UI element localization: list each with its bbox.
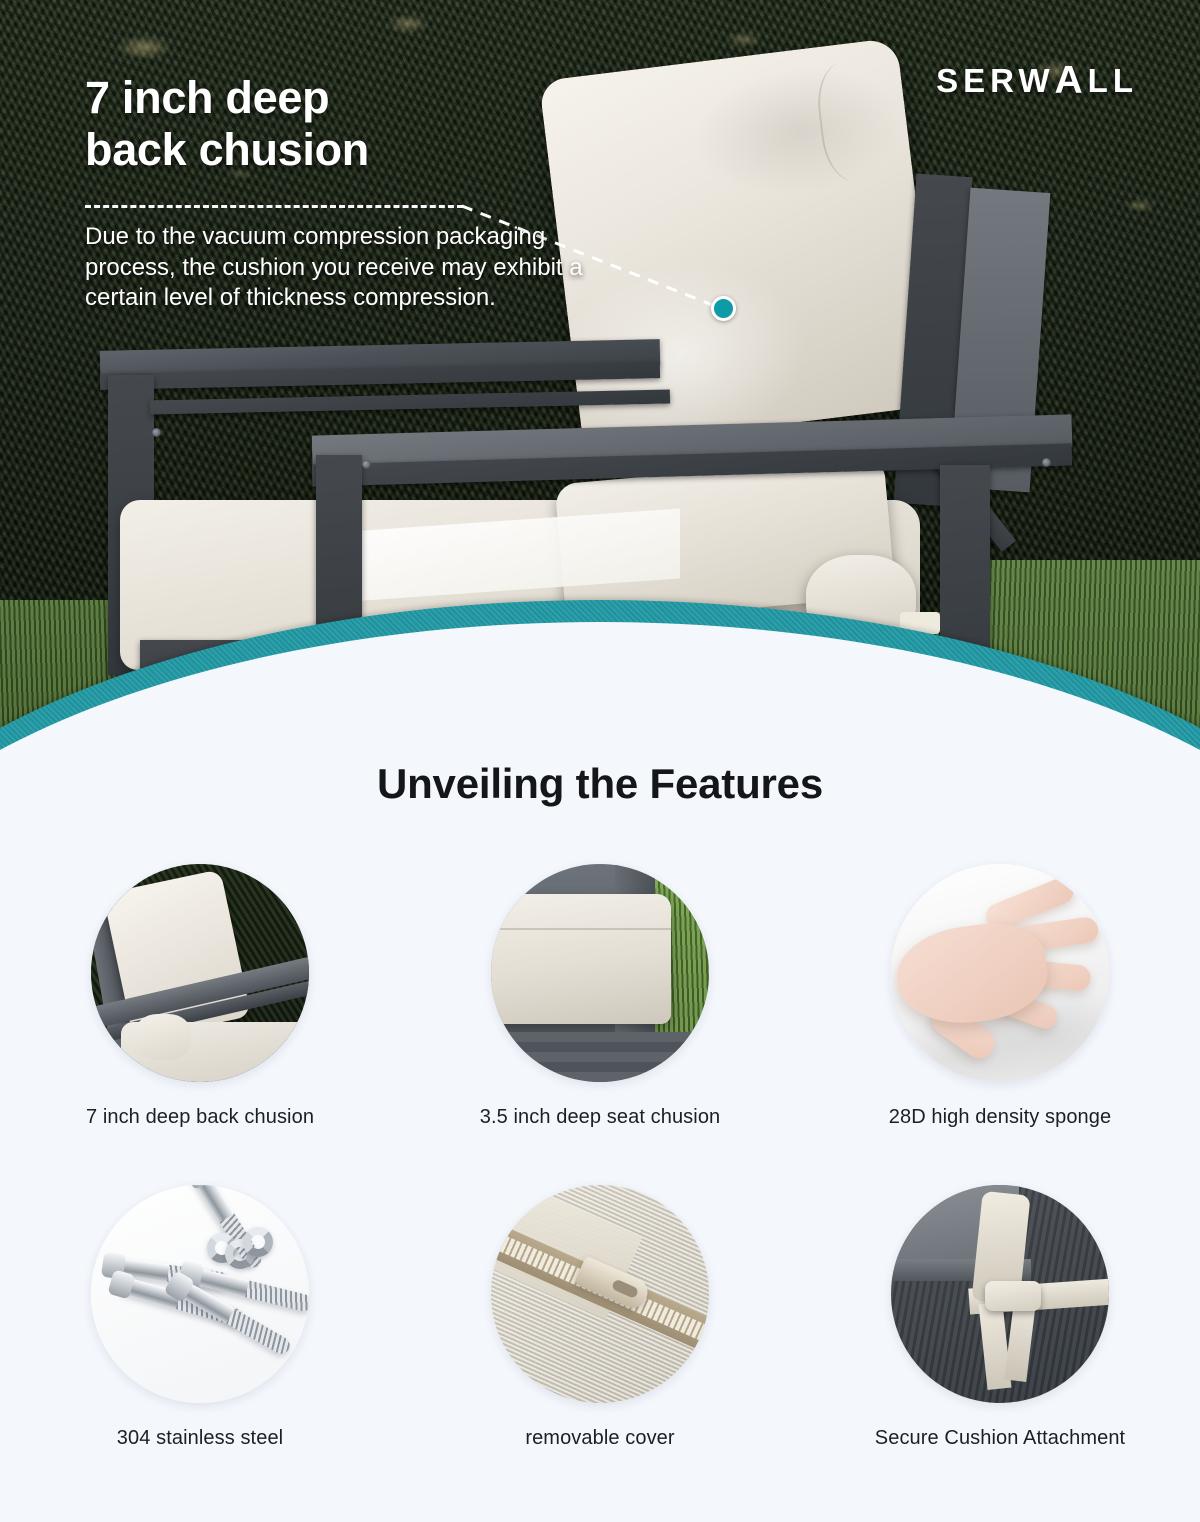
feature-thumbnail[interactable] (491, 1185, 709, 1403)
stainless-hardware-photo (91, 1185, 309, 1403)
screw-icon (152, 428, 161, 437)
features-row: 7 inch deep back chusion 3.5 inch deep s… (0, 864, 1200, 1129)
feature-thumbnail[interactable] (91, 1185, 309, 1403)
features-title: Unveiling the Features (0, 760, 1200, 808)
feature-caption: 3.5 inch deep seat chusion (480, 1106, 721, 1129)
logo-text-part-2: LL (1088, 62, 1138, 100)
feature-thumbnail[interactable] (891, 864, 1109, 1082)
headline-line-1: 7 inch deep (85, 72, 329, 123)
feature-caption: Secure Cushion Attachment (875, 1427, 1125, 1450)
foam-density-photo (891, 864, 1109, 1082)
seat-cushion-photo (491, 864, 709, 1082)
feature-item[interactable]: 3.5 inch deep seat chusion (400, 864, 800, 1129)
zipper-cover-photo (491, 1185, 709, 1403)
screw-icon (362, 460, 371, 469)
feature-thumbnail[interactable] (891, 1185, 1109, 1403)
feature-caption: 28D high density sponge (889, 1106, 1111, 1129)
features-row: 304 stainless steel removable cover (0, 1185, 1200, 1450)
brand-logo: SERWALL (936, 58, 1138, 102)
cushion-attachment-photo (891, 1185, 1109, 1403)
back-cushion-photo (91, 864, 309, 1082)
feature-item[interactable]: 28D high density sponge (800, 864, 1200, 1129)
headline-divider (85, 205, 463, 208)
feature-item[interactable]: Secure Cushion Attachment (800, 1185, 1200, 1450)
logo-text-part-1: SERW (936, 62, 1054, 100)
feature-item[interactable]: removable cover (400, 1185, 800, 1450)
features-grid: 7 inch deep back chusion 3.5 inch deep s… (0, 864, 1200, 1450)
feature-item[interactable]: 7 inch deep back chusion (0, 864, 400, 1129)
feature-caption: 7 inch deep back chusion (86, 1106, 314, 1129)
features-section: Unveiling the Features 7 inch deep back … (0, 760, 1200, 1450)
logo-text-tall-letter: A (1055, 59, 1088, 103)
feature-thumbnail[interactable] (91, 864, 309, 1082)
hero-body-text: Due to the vacuum compression packaging … (85, 222, 585, 314)
feature-thumbnail[interactable] (491, 864, 709, 1082)
hero-headline: 7 inch deep back chusion (85, 72, 605, 176)
callout-dot-icon (711, 296, 736, 321)
feature-caption: removable cover (525, 1427, 674, 1450)
feature-caption: 304 stainless steel (117, 1427, 283, 1450)
screw-icon (1042, 458, 1051, 467)
feature-item[interactable]: 304 stainless steel (0, 1185, 400, 1450)
headline-line-2: back chusion (85, 124, 369, 175)
